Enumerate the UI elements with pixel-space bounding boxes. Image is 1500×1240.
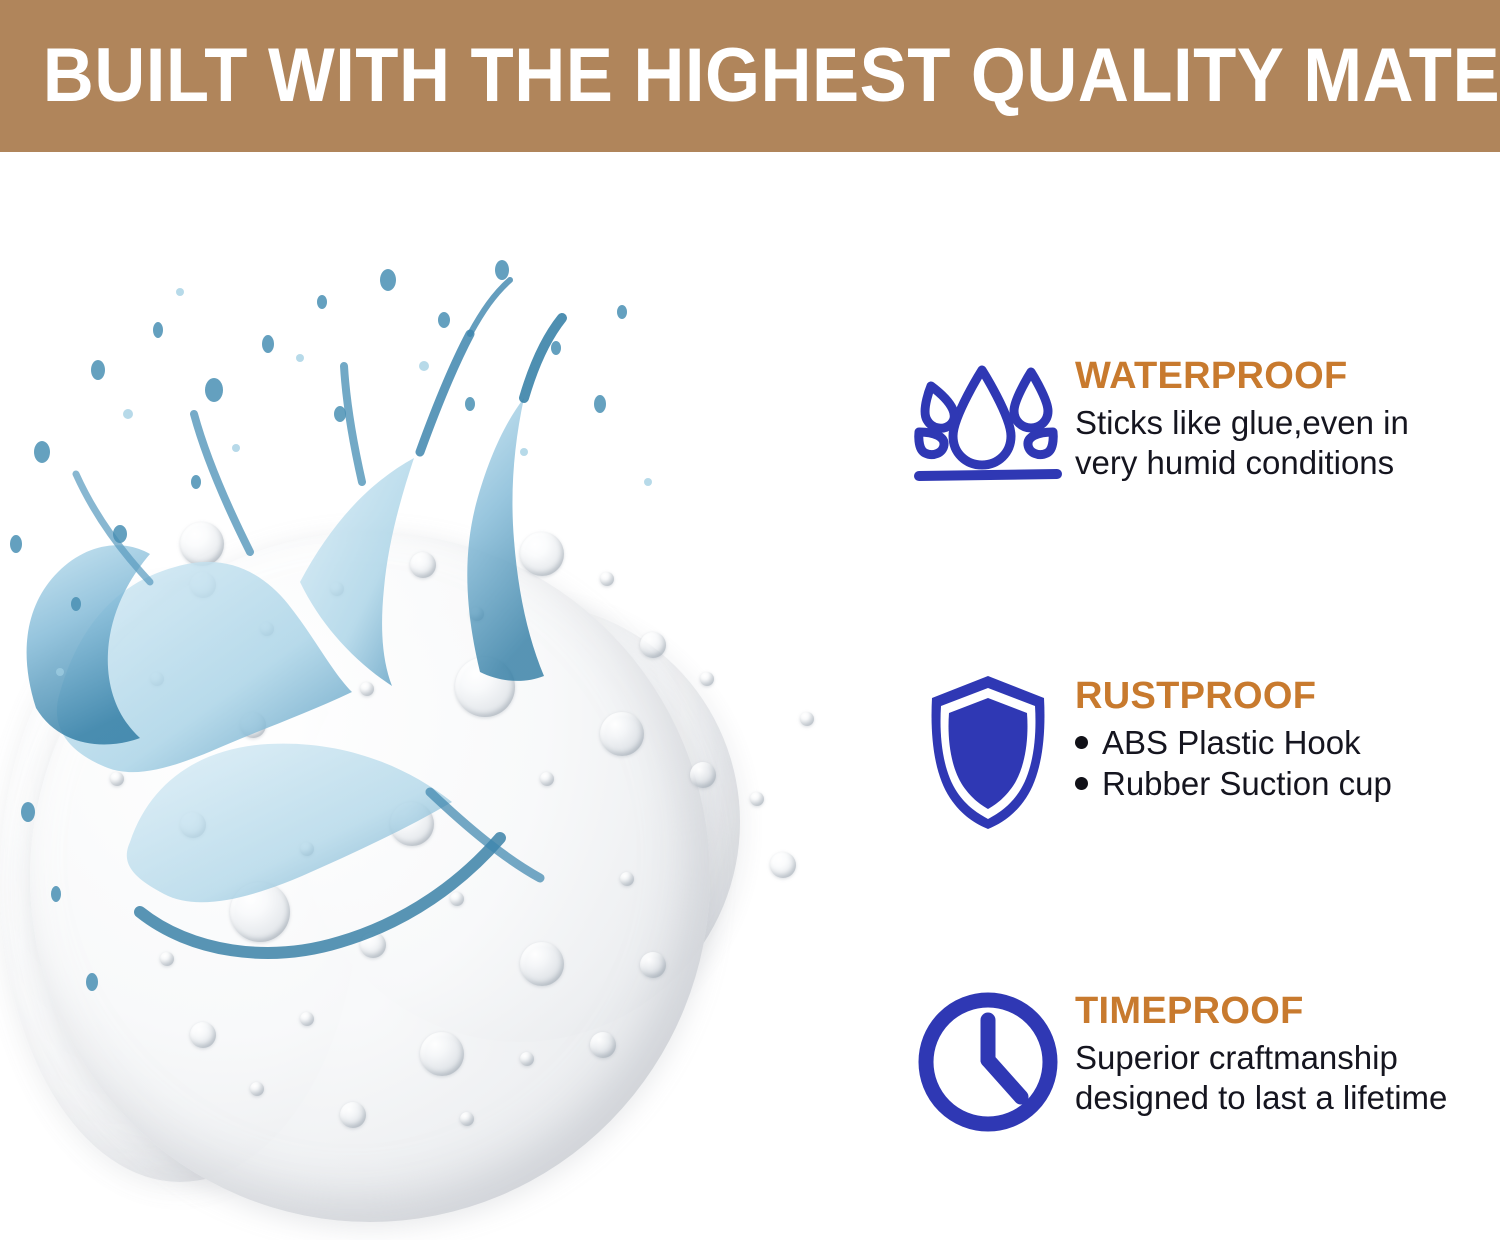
product-photo — [0, 152, 880, 1240]
water-splash-graphic — [0, 152, 880, 1240]
feature-line: designed to last a lifetime — [1075, 1078, 1447, 1118]
list-item-label: Rubber Suction cup — [1102, 764, 1392, 805]
feature-text: WATERPROOF Sticks like glue,even in very… — [1075, 352, 1409, 484]
feature-line: Superior craftmanship — [1075, 1038, 1447, 1078]
feature-title: WATERPROOF — [1075, 356, 1409, 397]
water-droplet-icon — [900, 352, 1075, 487]
content-area: WATERPROOF Sticks like glue,even in very… — [0, 152, 1500, 1240]
bullet-icon — [1075, 736, 1088, 749]
feature-text: TIMEPROOF Superior craftmanship designed… — [1075, 987, 1447, 1119]
list-item: Rubber Suction cup — [1075, 764, 1392, 805]
feature-waterproof: WATERPROOF Sticks like glue,even in very… — [900, 352, 1500, 487]
feature-line: Sticks like glue,even in — [1075, 403, 1409, 443]
bullet-icon — [1075, 777, 1088, 790]
feature-title: TIMEPROOF — [1075, 991, 1447, 1032]
clock-icon — [900, 987, 1075, 1137]
list-item-label: ABS Plastic Hook — [1102, 723, 1361, 764]
list-item: ABS Plastic Hook — [1075, 723, 1392, 764]
feature-line: very humid conditions — [1075, 443, 1409, 483]
shield-icon — [900, 672, 1075, 832]
header-banner: BUILT WITH THE HIGHEST QUALITY MATERIALS — [0, 0, 1500, 152]
feature-rustproof: RUSTPROOF ABS Plastic Hook Rubber Suctio… — [900, 672, 1500, 832]
feature-bullet-list: ABS Plastic Hook Rubber Suction cup — [1075, 723, 1392, 805]
feature-text: RUSTPROOF ABS Plastic Hook Rubber Suctio… — [1075, 672, 1392, 805]
page-title: BUILT WITH THE HIGHEST QUALITY MATERIALS — [0, 38, 1500, 114]
feature-title: RUSTPROOF — [1075, 676, 1392, 717]
feature-list: WATERPROOF Sticks like glue,even in very… — [900, 152, 1500, 1240]
feature-timeproof: TIMEPROOF Superior craftmanship designed… — [900, 987, 1500, 1137]
